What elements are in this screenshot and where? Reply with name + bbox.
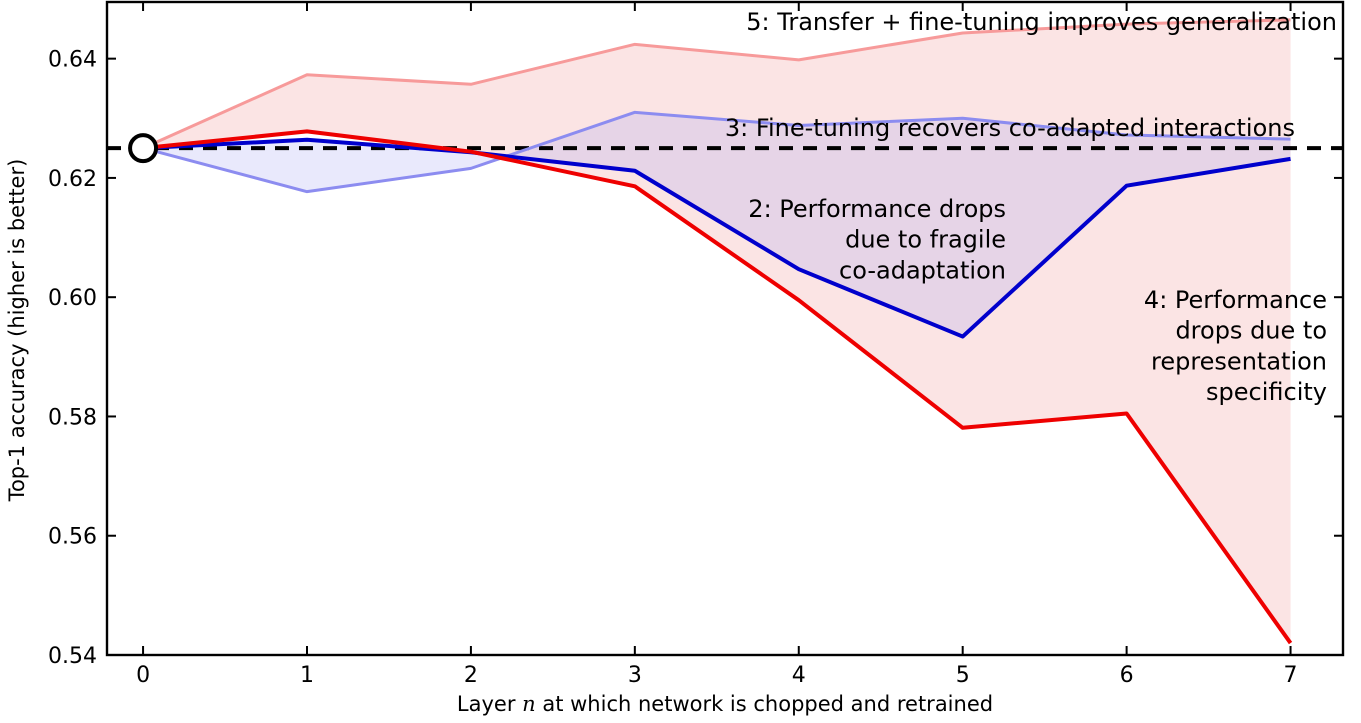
annot-4-line: 4: Performance [1144,286,1327,314]
xlabel-pre: Layer [457,692,522,716]
annot-5-line: 5: Transfer + fine-tuning improves gener… [746,8,1337,36]
origin-circle-marker [130,135,156,161]
x-tick-label: 1 [300,663,314,688]
y-tick-label: 0.56 [48,525,97,550]
x-tick-label: 0 [136,663,150,688]
x-axis-label: Layer n at which network is chopped and … [457,692,993,716]
chart-svg: 01234567 0.540.560.580.600.620.64 5: Tra… [0,0,1361,723]
annot-2-line: due to fragile [845,226,1006,254]
x-tick-label: 7 [1284,663,1298,688]
annot-2-line: co-adaptation [839,256,1006,284]
y-tick-label: 0.64 [48,48,97,73]
annot-4-line: representation [1151,347,1327,375]
y-tick-labels: 0.540.560.580.600.620.64 [48,48,97,669]
x-tick-label: 4 [792,663,806,688]
x-tick-label: 3 [628,663,642,688]
x-tick-label: 2 [464,663,478,688]
figure-canvas: 01234567 0.540.560.580.600.620.64 5: Tra… [0,0,1361,723]
annot-3-line: 3: Fine-tuning recovers co-adapted inter… [725,114,1295,142]
y-tick-label: 0.62 [48,167,97,192]
y-axis-label: Top-1 accuracy (higher is better) [5,159,29,503]
x-tick-label: 6 [1120,663,1134,688]
y-tick-label: 0.54 [48,644,97,669]
annot-4-line: specificity [1206,378,1327,406]
x-tick-labels: 01234567 [136,663,1297,688]
annot-2-line: 2: Performance drops [748,195,1006,223]
origin-marker [130,135,156,161]
x-tick-label: 5 [956,663,970,688]
xlabel-italic-n: n [522,692,536,716]
y-tick-label: 0.60 [48,286,97,311]
y-tick-label: 0.58 [48,405,97,430]
annot-5: 5: Transfer + fine-tuning improves gener… [746,8,1337,36]
annot-3: 3: Fine-tuning recovers co-adapted inter… [725,114,1295,142]
annot-4-line: drops due to [1175,317,1327,345]
xlabel-post: at which network is chopped and retraine… [536,692,993,716]
